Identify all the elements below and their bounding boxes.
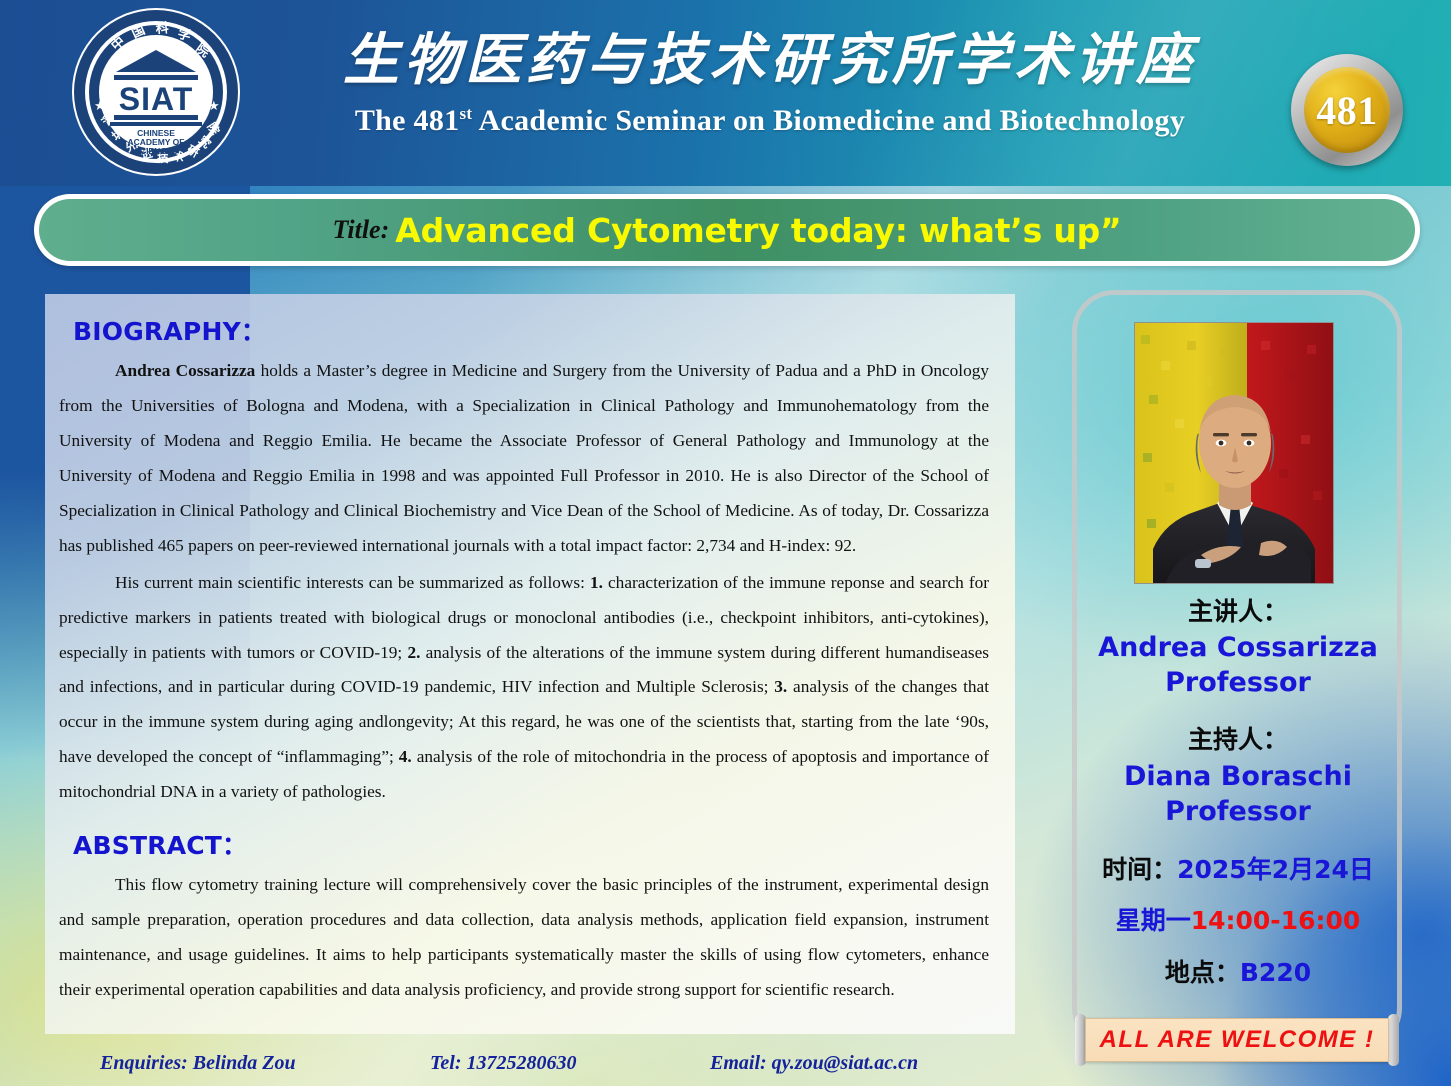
- footer-enquiries: Enquiries: Belinda Zou: [100, 1052, 430, 1075]
- host-label: 主持人：: [1080, 722, 1396, 758]
- welcome-text: ALL ARE WELCOME !: [1100, 1026, 1375, 1054]
- scroll-rod-right-icon: [1388, 1014, 1399, 1066]
- siat-logo-icon: 中 国 科 学 院 深 圳 先 进 技 术 研 究 院: [70, 6, 242, 178]
- speaker-title: Professor: [1080, 665, 1396, 700]
- speaker-name: Andrea Cossarizza: [1080, 630, 1396, 665]
- abstract-heading: ABSTRACT：: [73, 826, 989, 862]
- bio-p2-num-1: 1.: [590, 573, 603, 592]
- seminar-number-medallion: 481: [1291, 54, 1403, 166]
- time-row: 时间：2025年2月24日: [1080, 851, 1396, 889]
- footer-tel: Tel: 13725280630: [430, 1052, 710, 1075]
- biography-paragraph-2: His current main scientific interests ca…: [59, 566, 989, 811]
- welcome-banner: ALL ARE WELCOME !: [1082, 1016, 1392, 1064]
- poster-header: 中 国 科 学 院 深 圳 先 进 技 术 研 究 院: [0, 0, 1451, 186]
- seminar-poster: 中 国 科 学 院 深 圳 先 进 技 术 研 究 院: [0, 0, 1451, 1086]
- speaker-photo: [1134, 322, 1334, 584]
- speaker-name-inline: Andrea Cossarizza: [115, 361, 255, 380]
- time-label: 时间：: [1102, 855, 1177, 884]
- biography-paragraph-1: Andrea Cossarizza holds a Master’s degre…: [59, 354, 989, 564]
- time-date: 2025年2月24日: [1177, 855, 1374, 884]
- svg-text:科: 科: [155, 20, 169, 37]
- medallion-inner-disc: 481: [1304, 67, 1390, 153]
- title-banner: Title: Advanced Cytometry today: what’s …: [39, 199, 1415, 261]
- speaker-label: 主讲人：: [1080, 594, 1396, 630]
- seminar-title-english: The 481st Academic Seminar on Biomedicin…: [260, 104, 1280, 138]
- host-name: Diana Boraschi: [1080, 759, 1396, 794]
- title-en-rest: Academic Seminar on Biomedicine and Biot…: [472, 104, 1185, 137]
- sidebar-spacer-1: [1080, 700, 1396, 722]
- footer-contact-bar: Enquiries: Belinda Zou Tel: 13725280630 …: [100, 1052, 1000, 1075]
- seminar-number: 481: [1316, 87, 1378, 134]
- bio-p2-a: His current main scientific interests ca…: [115, 573, 590, 592]
- venue-row: 地点：B220: [1080, 954, 1396, 992]
- svg-text:SCIENCES: SCIENCES: [134, 146, 178, 156]
- abstract-paragraph: This flow cytometry training lecture wil…: [59, 868, 989, 1008]
- seminar-title-chinese: 生物医药与技术研究所学术讲座: [260, 26, 1280, 96]
- title-banner-label: Title:: [332, 215, 389, 245]
- header-title-group: 生物医药与技术研究所学术讲座 The 481st Academic Semina…: [260, 26, 1280, 138]
- title-banner-frame: Title: Advanced Cytometry today: what’s …: [34, 194, 1420, 266]
- sidebar-spacer-4: [1080, 940, 1396, 954]
- title-en-prefix: The 481: [355, 104, 460, 137]
- welcome-banner-box: ALL ARE WELCOME !: [1085, 1018, 1389, 1062]
- host-title: Professor: [1080, 794, 1396, 829]
- svg-text:★: ★: [94, 98, 106, 113]
- sidebar-details: 主讲人： Andrea Cossarizza Professor 主持人： Di…: [1080, 594, 1396, 991]
- venue-label: 地点：: [1165, 958, 1240, 987]
- sidebar-spacer-3: [1080, 888, 1396, 902]
- bio-p2-num-4: 4.: [399, 747, 412, 766]
- weekday: 星期一: [1116, 906, 1191, 935]
- biography-paragraph-1-rest: holds a Master’s degree in Medicine and …: [59, 361, 989, 555]
- sidebar-spacer-2: [1080, 829, 1396, 851]
- venue-value: B220: [1240, 958, 1311, 987]
- bio-p2-num-3: 3.: [774, 677, 787, 696]
- title-banner-value: Advanced Cytometry today: what’s up”: [395, 211, 1121, 250]
- content-panel: BIOGRAPHY： Andrea Cossarizza holds a Mas…: [45, 294, 1015, 1034]
- biography-heading: BIOGRAPHY：: [73, 312, 989, 348]
- svg-text:★: ★: [208, 98, 220, 113]
- title-en-ordinal-suffix: st: [459, 104, 472, 123]
- weekday-time-row: 星期一14:00-16:00: [1080, 902, 1396, 940]
- bio-p2-num-2: 2.: [407, 643, 420, 662]
- footer-email: Email: qy.zou@siat.ac.cn: [710, 1052, 1000, 1075]
- svg-text:SIAT: SIAT: [119, 81, 194, 117]
- time-range: 14:00-16:00: [1191, 906, 1361, 935]
